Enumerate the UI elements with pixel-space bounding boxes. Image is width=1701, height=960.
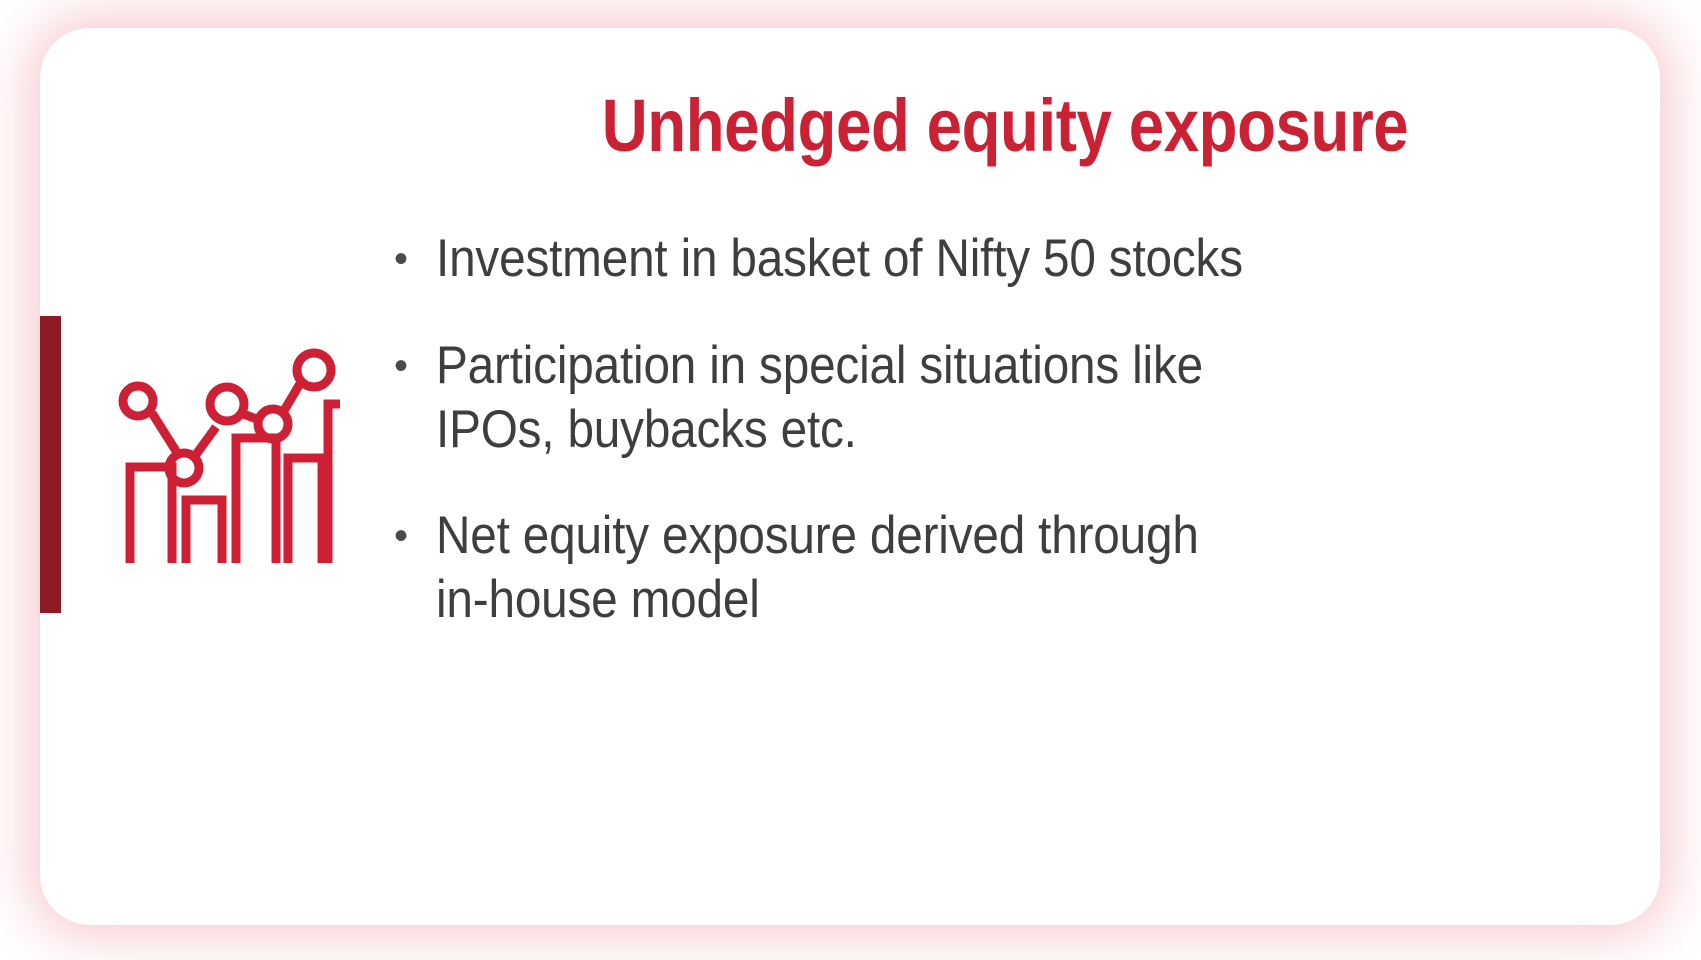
list-item: • Investment in basket of Nifty 50 stock… bbox=[380, 227, 1630, 291]
list-item: • Net equity exposure derived through in… bbox=[380, 504, 1630, 632]
list-item: • Participation in special situations li… bbox=[380, 334, 1630, 462]
list-item-label: Participation in special situations like… bbox=[436, 334, 1251, 462]
list-item-label: Investment in basket of Nifty 50 stocks bbox=[436, 227, 1251, 291]
info-card: Unhedged equity exposure • Investment in… bbox=[40, 28, 1660, 925]
bullet-dot-icon: • bbox=[380, 227, 436, 291]
left-accent-bar bbox=[40, 316, 61, 613]
page-title: Unhedged equity exposure bbox=[468, 88, 1543, 163]
card-content: Unhedged equity exposure • Investment in… bbox=[380, 88, 1630, 632]
bullet-dot-icon: • bbox=[380, 504, 436, 568]
feature-bullet-list: • Investment in basket of Nifty 50 stock… bbox=[380, 227, 1630, 632]
bullet-dot-icon: • bbox=[380, 334, 436, 398]
bar-chart-trendline-icon bbox=[110, 348, 340, 563]
list-item-label: Net equity exposure derived through in-h… bbox=[436, 504, 1251, 632]
